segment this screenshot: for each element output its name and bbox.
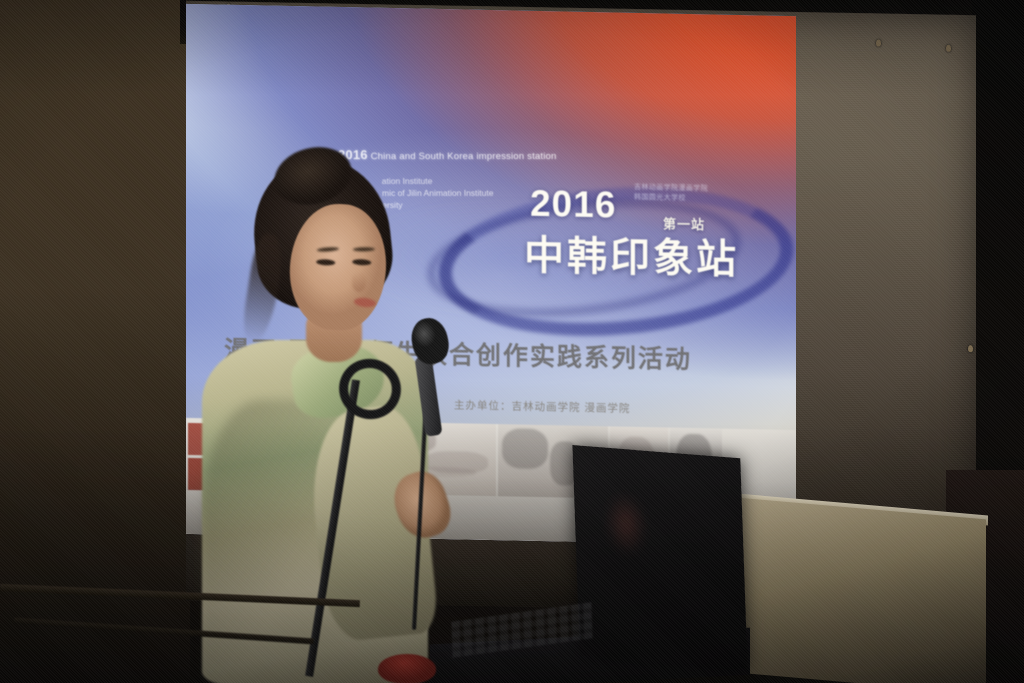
laptop-lid <box>572 445 747 669</box>
slide-organizer-line-2: 韩国圆光大学校 <box>634 192 708 203</box>
slide-main-title: 中韩印象站 <box>524 223 739 285</box>
photograph-scene: 2016 China and South Korea impression st… <box>0 0 1024 683</box>
left-wall-panel <box>0 0 190 683</box>
presenter-nose <box>352 272 366 292</box>
computer-mouse <box>378 654 436 683</box>
slide-organizer-small: 吉林动画学院漫画学院 韩国圆光大学校 <box>634 183 708 203</box>
slide-title-year: 2016 <box>530 183 616 227</box>
lectern <box>726 497 986 683</box>
